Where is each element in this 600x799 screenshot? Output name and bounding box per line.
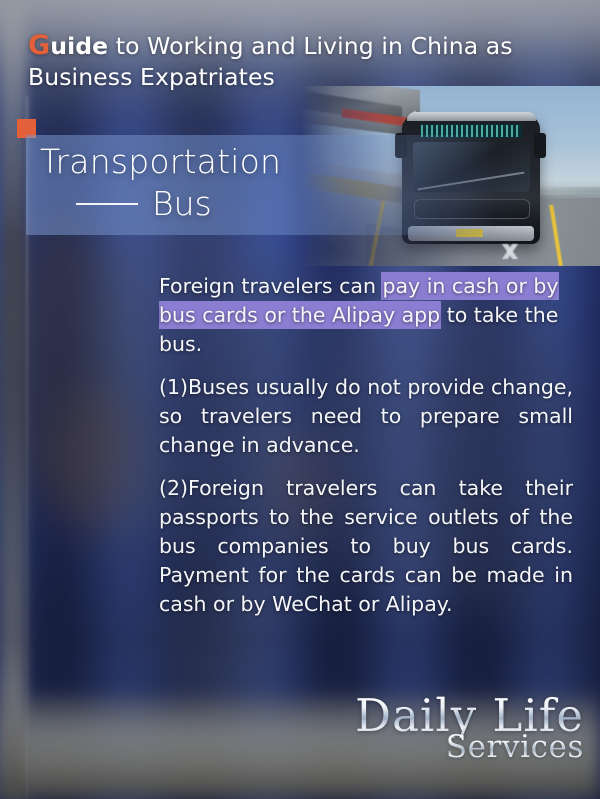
header-bold-word: uide xyxy=(50,32,108,60)
paragraph-intro: Foreign travelers can pay in cash or by … xyxy=(159,272,573,359)
header-line-2: Business Expatriates xyxy=(28,62,548,93)
page-title: Transportation xyxy=(40,140,510,184)
page-subtitle: Bus xyxy=(152,182,212,226)
title-subtitle-row: Bus xyxy=(40,182,510,226)
footer-logo: Daily Life Services xyxy=(355,693,584,763)
body-content: Foreign travelers can pay in cash or by … xyxy=(159,272,573,619)
paragraph-item-1: (1)Buses usually do not provide change, … xyxy=(159,373,573,460)
footer-logo-sub: Services xyxy=(355,732,584,763)
header: Guide to Working and Living in China as … xyxy=(28,30,548,93)
title-rule-line xyxy=(76,203,138,205)
header-drop-cap: G xyxy=(28,30,50,61)
header-line-1-rest: to Working and Living in China as xyxy=(108,32,512,60)
header-line-1: Guide to Working and Living in China as xyxy=(28,30,548,62)
title-block: Transportation Bus xyxy=(40,140,510,226)
paragraph-item-2: (2)Foreign travelers can take their pass… xyxy=(159,474,573,619)
poster-page: Guide to Working and Living in China as … xyxy=(0,0,600,799)
paragraph-intro-pre: Foreign travelers can xyxy=(159,274,382,298)
